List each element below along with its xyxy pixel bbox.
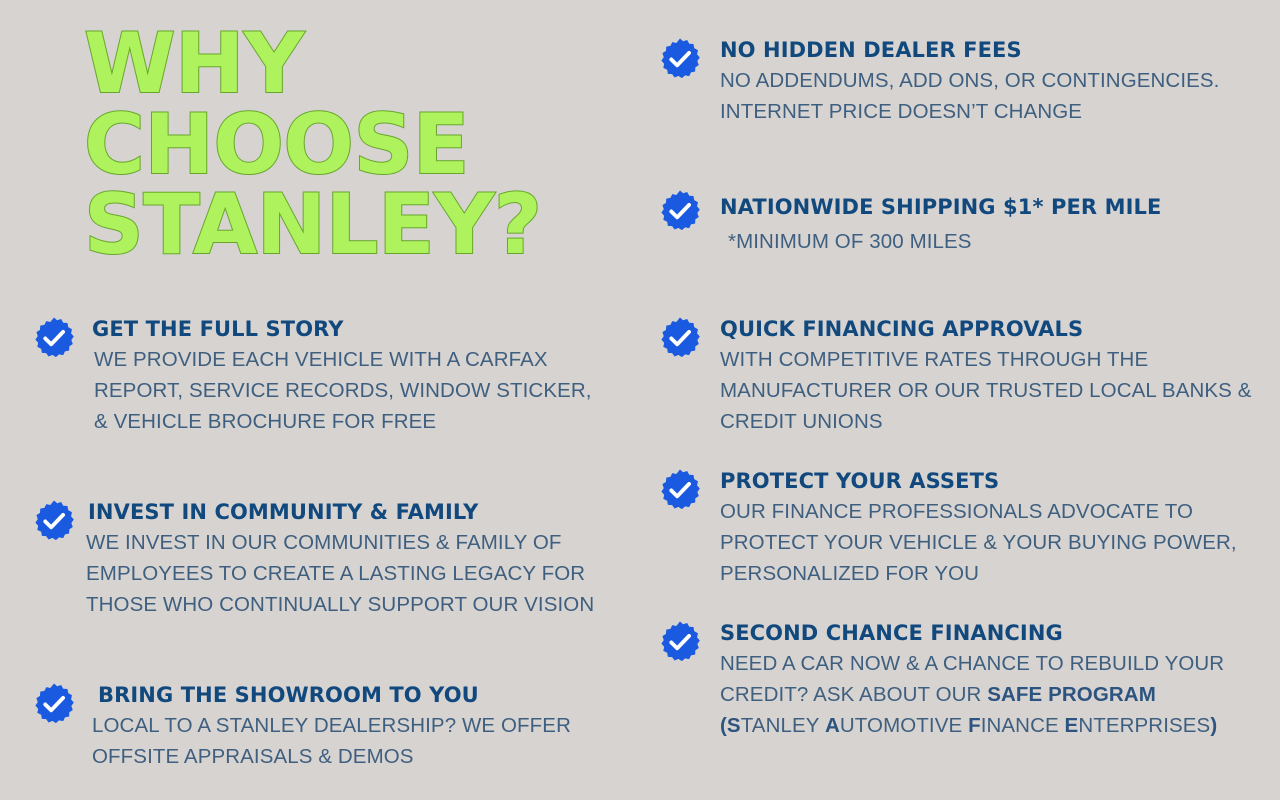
- body-segment: TANLEY: [741, 714, 825, 737]
- page-title: WHY CHOOSE STANLEY?: [84, 24, 604, 266]
- feature-heading: NATIONWIDE SHIPPING $1* PER MILE: [720, 189, 1258, 225]
- check-badge-icon: [658, 468, 702, 512]
- feature-heading: INVEST IN COMMUNITY & FAMILY: [88, 499, 602, 526]
- feature-text: NATIONWIDE SHIPPING $1* PER MILE *MINIMU…: [720, 189, 1258, 257]
- feature-text: NO HIDDEN DEALER FEES NO ADDENDUMS, ADD …: [720, 37, 1258, 127]
- body-segment: UTOMOTIVE: [840, 714, 968, 737]
- check-badge-icon: [32, 499, 76, 543]
- check-badge-icon: [32, 316, 76, 360]
- body-segment-bold: A: [825, 714, 840, 737]
- feature-item-invest-in-community-and-family: INVEST IN COMMUNITY & FAMILY WE INVEST I…: [32, 499, 602, 620]
- feature-heading: PROTECT YOUR ASSETS: [720, 468, 1258, 495]
- check-badge-icon: [658, 620, 702, 664]
- feature-text: GET THE FULL STORY WE PROVIDE EACH VEHIC…: [92, 316, 602, 437]
- feature-text: PROTECT YOUR ASSETS OUR FINANCE PROFESSI…: [720, 468, 1258, 589]
- feature-body: WITH COMPETITIVE RATES THROUGH THE MANUF…: [720, 344, 1258, 437]
- check-badge-icon: [32, 682, 76, 726]
- feature-heading: BRING THE SHOWROOM TO YOU: [98, 682, 602, 709]
- feature-heading: QUICK FINANCING APPROVALS: [720, 316, 1258, 343]
- feature-item-protect-your-assets: PROTECT YOUR ASSETS OUR FINANCE PROFESSI…: [658, 468, 1258, 589]
- feature-body: NEED A CAR NOW & A CHANCE TO REBUILD YOU…: [720, 648, 1258, 741]
- check-badge-icon: [658, 189, 702, 233]
- feature-heading: GET THE FULL STORY: [92, 316, 602, 343]
- body-segment: NTERPRISES: [1078, 714, 1210, 737]
- feature-heading: NO HIDDEN DEALER FEES: [720, 37, 1258, 64]
- body-segment: INANCE: [981, 714, 1065, 737]
- body-segment-bold: E: [1065, 714, 1079, 737]
- feature-text: BRING THE SHOWROOM TO YOU LOCAL TO A STA…: [92, 682, 602, 772]
- feature-item-nationwide-shipping: NATIONWIDE SHIPPING $1* PER MILE *MINIMU…: [658, 189, 1258, 257]
- feature-body: WE PROVIDE EACH VEHICLE WITH A CARFAX RE…: [94, 344, 602, 437]
- body-segment-bold: ): [1210, 714, 1217, 737]
- feature-body: *MINIMUM OF 300 MILES: [720, 226, 1258, 257]
- feature-heading: SECOND CHANCE FINANCING: [720, 620, 1258, 647]
- feature-body: LOCAL TO A STANLEY DEALERSHIP? WE OFFER …: [92, 710, 602, 772]
- feature-text: SECOND CHANCE FINANCING NEED A CAR NOW &…: [720, 620, 1258, 741]
- feature-body: NO ADDENDUMS, ADD ONS, OR CONTINGENCIES.…: [720, 65, 1258, 127]
- feature-text: INVEST IN COMMUNITY & FAMILY WE INVEST I…: [86, 499, 602, 620]
- body-segment-bold: F: [968, 714, 981, 737]
- feature-item-quick-financing-approvals: QUICK FINANCING APPROVALS WITH COMPETITI…: [658, 316, 1258, 437]
- feature-item-get-the-full-story: GET THE FULL STORY WE PROVIDE EACH VEHIC…: [32, 316, 602, 437]
- feature-item-second-chance-financing: SECOND CHANCE FINANCING NEED A CAR NOW &…: [658, 620, 1258, 741]
- feature-text: QUICK FINANCING APPROVALS WITH COMPETITI…: [720, 316, 1258, 437]
- feature-body: WE INVEST IN OUR COMMUNITIES & FAMILY OF…: [86, 527, 602, 620]
- why-choose-stanley-graphic: WHY CHOOSE STANLEY? GET THE FULL STORY W…: [0, 0, 1280, 800]
- check-badge-icon: [658, 37, 702, 81]
- feature-item-bring-the-showroom-to-you: BRING THE SHOWROOM TO YOU LOCAL TO A STA…: [32, 682, 602, 772]
- check-badge-icon: [658, 316, 702, 360]
- feature-body: OUR FINANCE PROFESSIONALS ADVOCATE TO PR…: [720, 496, 1258, 589]
- feature-item-no-hidden-dealer-fees: NO HIDDEN DEALER FEES NO ADDENDUMS, ADD …: [658, 37, 1258, 127]
